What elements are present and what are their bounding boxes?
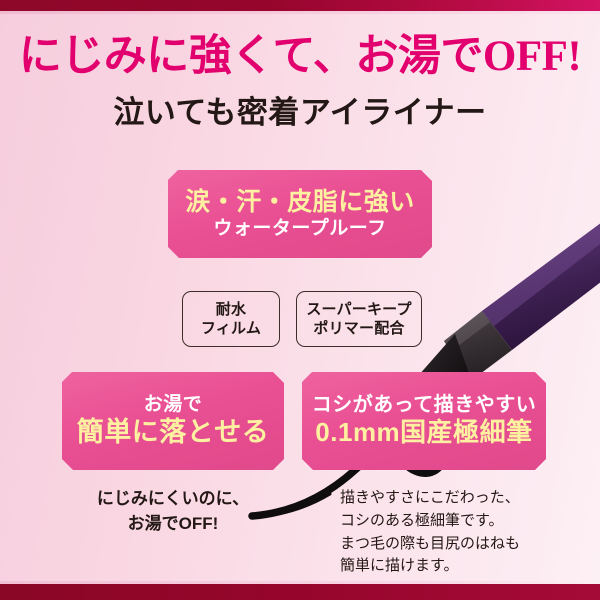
badge-hot-water-off-subline: お湯で	[144, 394, 203, 416]
chip-water-resistant-film: 耐水 フィルム	[182, 291, 280, 347]
advertisement-poster: にじみに強くて、お湯でOFF! 泣いても密着アイライナー	[0, 0, 600, 600]
caption-hot-water-off: にじみにくいのに、 お湯でOFF!	[62, 487, 284, 536]
badge-hot-water-off: お湯で 簡単に落とせる	[62, 372, 284, 470]
caption-line-1: にじみにくいのに、	[62, 487, 284, 512]
caption-line-1: 描きやすさにこだわった、	[340, 487, 580, 510]
chip-line-1: スーパーキープ	[306, 300, 411, 319]
badge-fine-brush-subline: コシがあって描きやすい	[312, 394, 537, 417]
page-subheadline: 泣いても密着アイライナー	[0, 96, 600, 130]
caption-line-2: コシのある極細筆です。	[340, 510, 580, 533]
caption-line-2: お湯でOFF!	[62, 512, 284, 537]
page-headline: にじみに強くて、お湯でOFF!	[0, 34, 600, 79]
caption-line-3: まつ毛の際も目尻のはねも	[340, 533, 580, 556]
badge-waterproof-subline: ウォータープルーフ	[213, 218, 386, 240]
caption-line-4: 簡単に描けます。	[340, 555, 580, 578]
badge-fine-brush: コシがあって描きやすい 0.1mm国産極細筆	[302, 372, 546, 470]
badge-waterproof-headline: 涙・汗・皮脂に強い	[185, 188, 415, 217]
badge-waterproof: 涙・汗・皮脂に強い ウォータープルーフ	[168, 170, 432, 258]
badge-fine-brush-headline: 0.1mm国産極細筆	[315, 418, 532, 448]
badge-hot-water-off-headline: 簡単に落とせる	[77, 417, 270, 448]
bottom-border-band	[0, 584, 600, 600]
top-border-sheen	[0, 11, 600, 14]
caption-fine-brush: 描きやすさにこだわった、 コシのある極細筆です。 まつ毛の際も目尻のはねも 簡単…	[340, 487, 580, 578]
chip-line-2: ポリマー配合	[313, 319, 404, 338]
chip-line-2: フィルム	[201, 319, 261, 338]
top-border-band	[0, 0, 600, 11]
pen-ferrule	[444, 311, 512, 380]
pen-barrel	[482, 214, 600, 350]
chip-line-1: 耐水	[216, 300, 246, 319]
chip-super-keep-polymer: スーパーキープ ポリマー配合	[296, 291, 422, 347]
